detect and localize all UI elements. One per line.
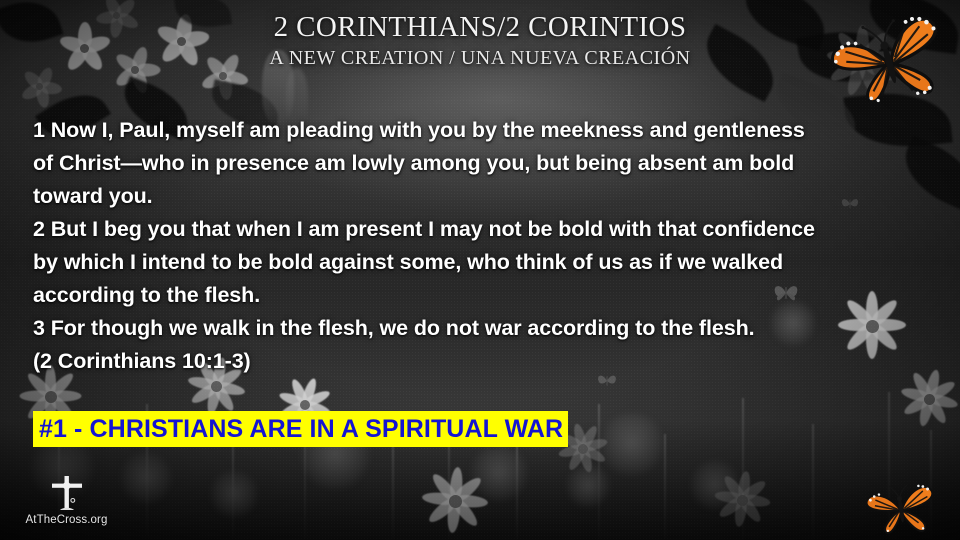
logo-text: AtTheCross.org bbox=[14, 514, 119, 526]
scripture-line: 2 But I beg you that when I am present I… bbox=[33, 213, 928, 246]
monarch-butterfly-bottom-right-icon bbox=[862, 478, 940, 540]
flower-petals bbox=[420, 466, 490, 536]
scripture-line: 3 For though we walk in the flesh, we do… bbox=[33, 312, 928, 345]
scripture-line: according to the flesh. bbox=[33, 279, 928, 312]
title-block: 2 CORINTHIANS/2 CORINTIOS A NEW CREATION… bbox=[0, 12, 960, 70]
slide-subtitle: A NEW CREATION / UNA NUEVA CREACIÓN bbox=[0, 47, 960, 70]
scripture-text: 1 Now I, Paul, myself am pleading with y… bbox=[33, 114, 928, 378]
site-logo[interactable]: AtTheCross.org bbox=[14, 474, 119, 526]
cross-icon bbox=[50, 474, 84, 512]
sermon-point-highlight: #1 - CHRISTIANS ARE IN A SPIRITUAL WAR bbox=[33, 411, 568, 447]
scripture-line: toward you. bbox=[33, 180, 928, 213]
sermon-slide: 2 CORINTHIANS/2 CORINTIOS A NEW CREATION… bbox=[0, 0, 960, 540]
flower-petals bbox=[712, 470, 772, 530]
slide-title: 2 CORINTHIANS/2 CORINTIOS bbox=[0, 12, 960, 43]
sermon-point-container: #1 - CHRISTIANS ARE IN A SPIRITUAL WAR bbox=[33, 411, 568, 447]
scripture-line: 1 Now I, Paul, myself am pleading with y… bbox=[33, 114, 928, 147]
scripture-line: by which I intend to be bold against som… bbox=[33, 246, 928, 279]
scripture-reference: (2 Corinthians 10:1-3) bbox=[33, 345, 928, 378]
scripture-line: of Christ—who in presence am lowly among… bbox=[33, 147, 928, 180]
